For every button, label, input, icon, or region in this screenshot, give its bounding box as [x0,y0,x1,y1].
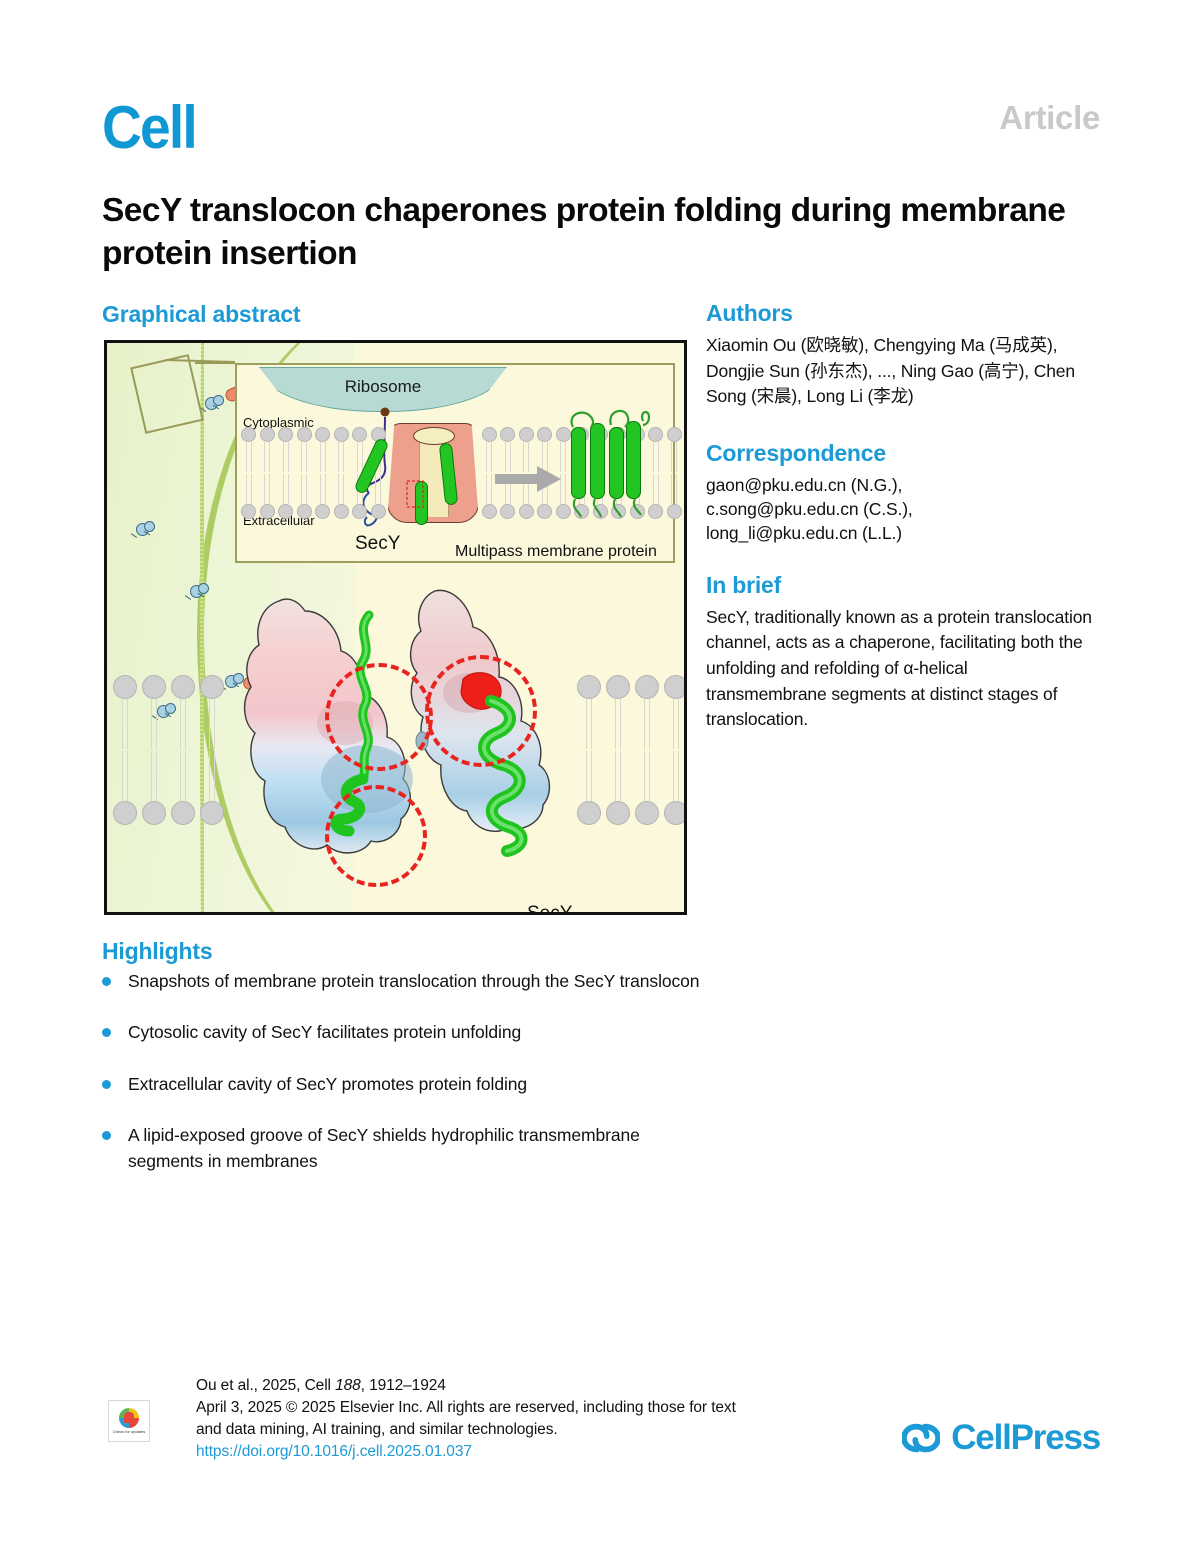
correspondence-heading: Correspondence [706,440,1092,467]
doi-link[interactable]: https://doi.org/10.1016/j.cell.2025.01.0… [196,1441,896,1463]
citation-pages: , 1912–1924 [361,1377,446,1394]
in-brief-heading: In brief [706,572,1092,599]
transition-arrow-icon [495,465,561,493]
authors-list: Xiaomin Ou (欧晓敏), Chengying Ma (马成英), Do… [706,333,1092,410]
bullet-icon [102,977,111,986]
cellpress-wordmark: CellPress [951,1418,1100,1458]
bullet-icon [102,1028,111,1037]
highlight-text: Extracellular cavity of SecY promotes pr… [128,1071,527,1097]
list-item: Extracellular cavity of SecY promotes pr… [102,1071,702,1097]
highlight-text: Snapshots of membrane protein translocat… [128,968,699,994]
secy-structure-illustration: SecY chaperoning site [107,593,687,915]
lateral-gate-marker [387,473,447,515]
crossmark-label: Check for updates [113,1430,145,1435]
crossmark-ring-icon [119,1408,139,1428]
footer-citation: Ou et al., 2025, Cell 188, 1912–1924 Apr… [196,1375,896,1463]
graphical-abstract-heading: Graphical abstract [102,301,300,328]
copyright-line-1: April 3, 2025 © 2025 Elsevier Inc. All r… [196,1397,896,1419]
citation-prefix: Ou et al., 2025, Cell [196,1377,335,1394]
chaperoning-site-marker [425,655,537,767]
citation-line: Ou et al., 2025, Cell 188, 1912–1924 [196,1375,896,1397]
crossmark-badge[interactable]: Check for updates [108,1400,150,1442]
bullet-icon [102,1080,111,1089]
highlights-heading: Highlights [102,938,212,965]
secy-label-main: SecY [527,903,572,915]
highlights-list: Snapshots of membrane protein translocat… [102,968,702,1199]
cell-journal-logo: Cell [102,98,196,158]
copyright-line-2: and data mining, AI training, and simila… [196,1419,896,1441]
cellpress-logo: CellPress [902,1418,1100,1458]
cellpress-mark-icon [902,1421,940,1455]
correspondence-email[interactable]: gaon@pku.edu.cn (N.G.), [706,473,1092,497]
list-item: Cytosolic cavity of SecY facilitates pro… [102,1019,702,1045]
secy-label-inset: SecY [355,533,400,555]
inset-schematic-panel: Ribosome Cytoplasmic Extracellular [235,363,675,563]
list-item: A lipid-exposed groove of SecY shields h… [102,1122,702,1175]
correspondence-email[interactable]: long_li@pku.edu.cn (L.L.) [706,521,1092,545]
multipass-protein-label: Multipass membrane protein [455,543,657,561]
correspondence-email[interactable]: c.song@pku.edu.cn (C.S.), [706,497,1092,521]
secy-pore-opening [413,427,455,445]
citation-volume: 188 [335,1377,361,1394]
right-metadata-column: Authors Xiaomin Ou (欧晓敏), Chengying Ma (… [706,300,1092,733]
page-title: SecY translocon chaperones protein foldi… [102,190,1102,275]
chaperoning-site-marker [325,663,433,771]
bullet-icon [102,1131,111,1140]
authors-heading: Authors [706,300,1092,327]
article-cover-page: Cell Article SecY translocon chaperones … [0,0,1200,1557]
graphical-abstract-figure: Ribosome Cytoplasmic Extracellular [104,340,687,915]
highlight-text: A lipid-exposed groove of SecY shields h… [128,1122,702,1175]
in-brief-text: SecY, traditionally known as a protein t… [706,605,1092,734]
article-type-label: Article [999,99,1100,137]
highlight-text: Cytosolic cavity of SecY facilitates pro… [128,1019,521,1045]
chaperoning-site-marker [325,785,427,887]
list-item: Snapshots of membrane protein translocat… [102,968,702,994]
protein-loops [565,403,655,519]
